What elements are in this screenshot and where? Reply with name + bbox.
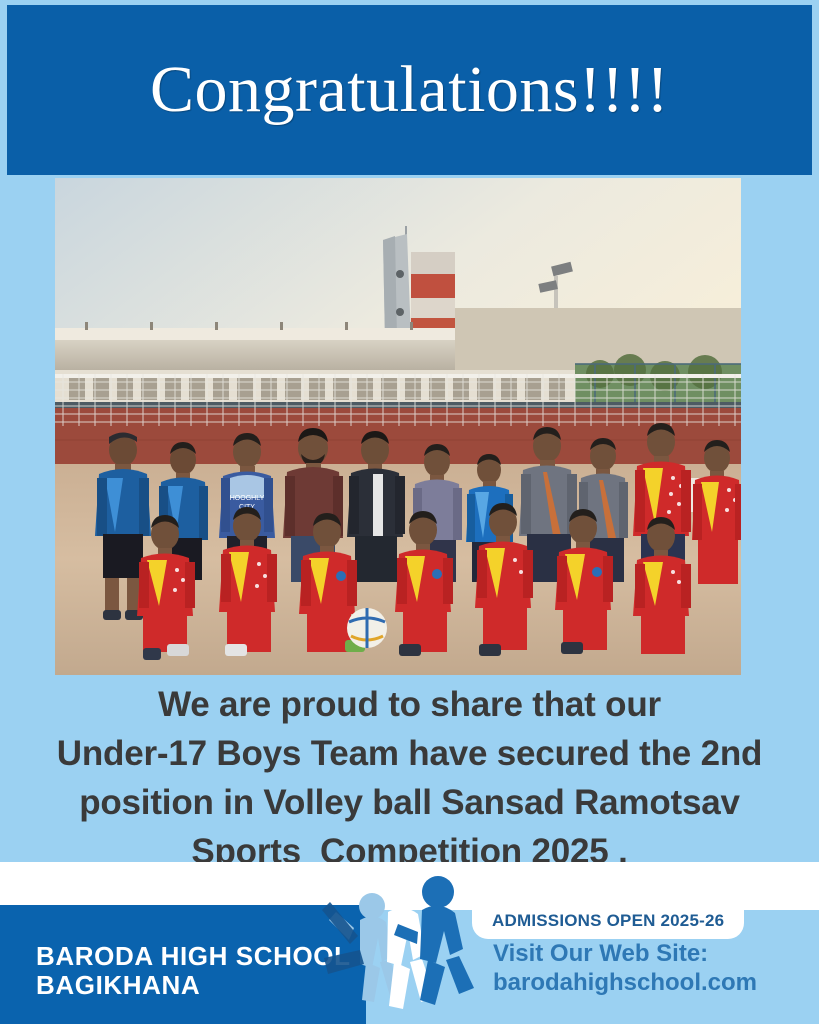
header-banner: Congratulations!!!! (7, 5, 812, 175)
website-label: Visit Our Web Site: (493, 940, 757, 969)
page-title: Congratulations!!!! (150, 57, 669, 123)
running-children-logo (310, 862, 490, 1024)
announcement-line-2: Under-17 Boys Team have secured the 2nd (0, 729, 819, 778)
announcement-text: We are proud to share that our Under-17 … (0, 680, 819, 876)
school-name-line-1: BARODA HIGH SCHOOL (36, 942, 351, 971)
svg-text:HOOGHLY: HOOGHLY (230, 495, 265, 502)
admissions-badge[interactable]: ADMISSIONS OPEN 2025-26 (472, 905, 744, 939)
website-url[interactable]: barodahighschool.com (493, 969, 757, 998)
school-name: BARODA HIGH SCHOOL BAGIKHANA (36, 942, 351, 1000)
poster: Congratulations!!!! (0, 0, 819, 1024)
footer: BARODA HIGH SCHOOL BAGIKHANA (0, 862, 819, 1024)
team-photo-illustration: HOOGHLY CITY (55, 178, 741, 675)
website-block: Visit Our Web Site: barodahighschool.com (493, 940, 757, 998)
school-name-line-2: BAGIKHANA (36, 971, 351, 1000)
team-photo: HOOGHLY CITY (55, 178, 741, 675)
announcement-line-1: We are proud to share that our (0, 680, 819, 729)
announcement-line-3: position in Volley ball Sansad Ramotsav (0, 778, 819, 827)
volleyball (347, 608, 387, 648)
